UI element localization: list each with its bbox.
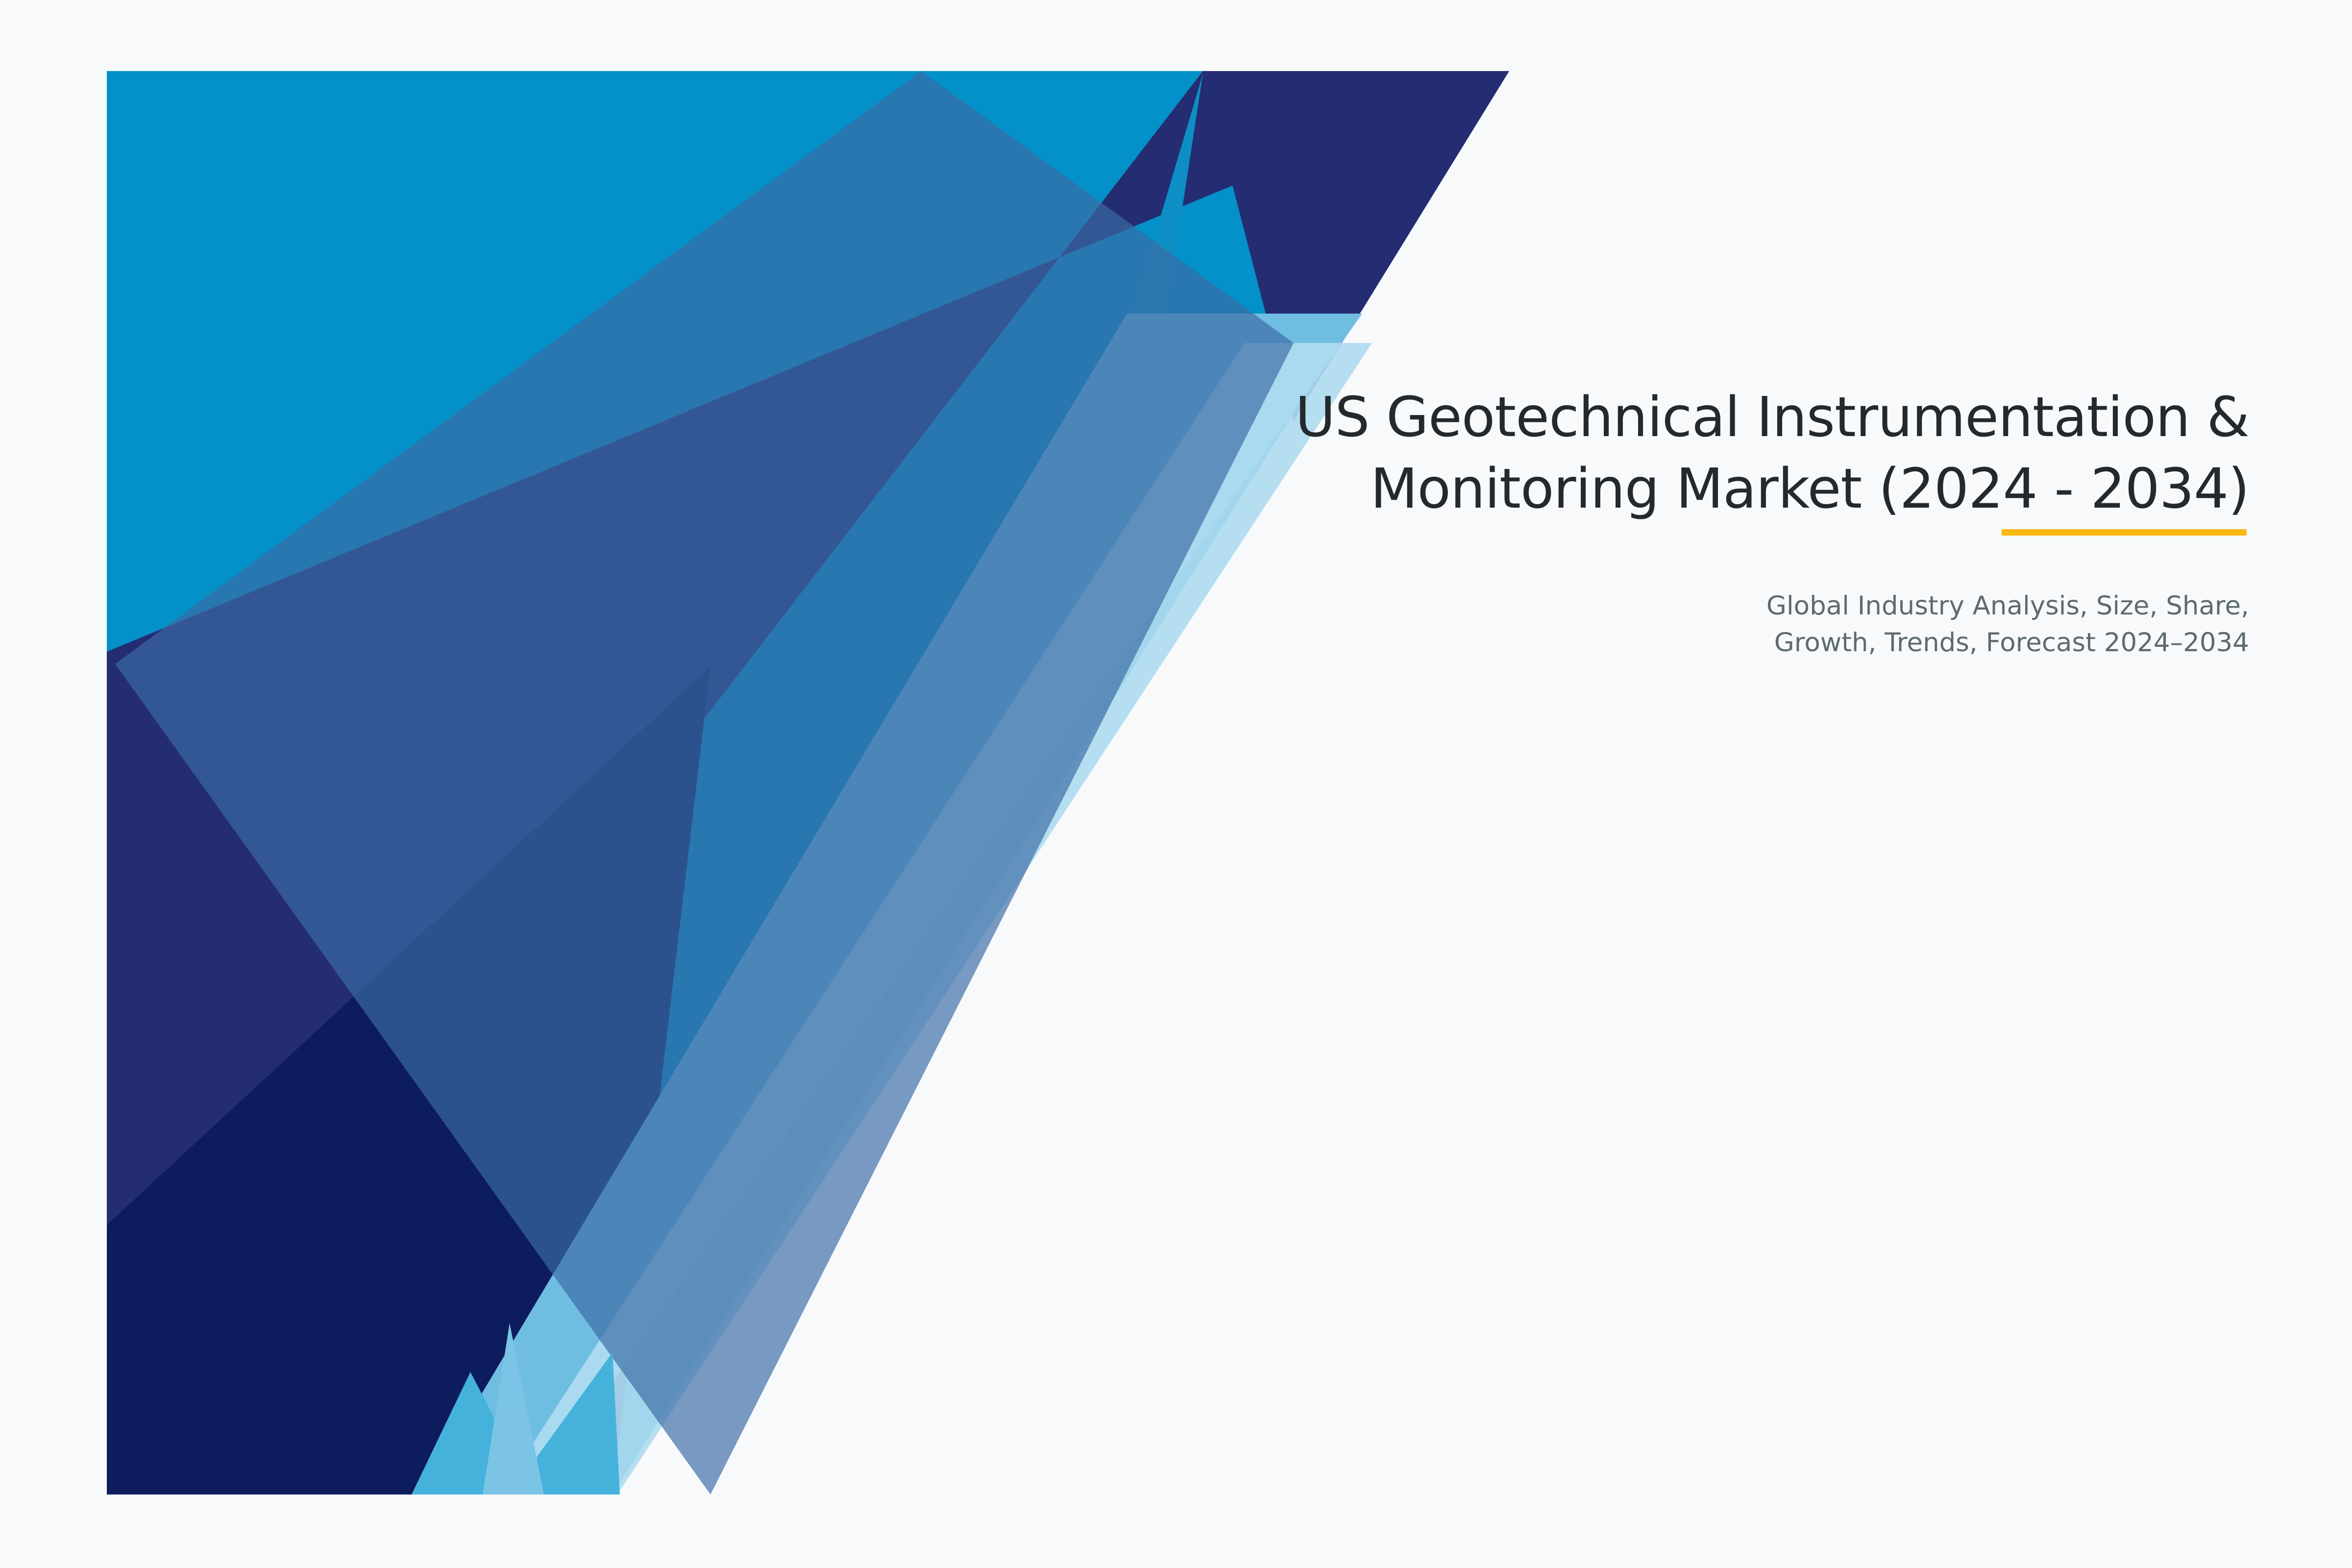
cover-text-block: US Geotechnical Instrumentation & Monito… xyxy=(931,382,2249,661)
page-title: US Geotechnical Instrumentation & Monito… xyxy=(931,382,2249,525)
title-highlight-underline xyxy=(2002,529,2247,536)
abstract-polygon-graphic xyxy=(0,0,2352,1568)
cover-page: US Geotechnical Instrumentation & Monito… xyxy=(0,0,2352,1568)
page-subtitle: Global Industry Analysis, Size, Share, G… xyxy=(931,525,2249,661)
title-wrapper: US Geotechnical Instrumentation & Monito… xyxy=(931,382,2249,525)
